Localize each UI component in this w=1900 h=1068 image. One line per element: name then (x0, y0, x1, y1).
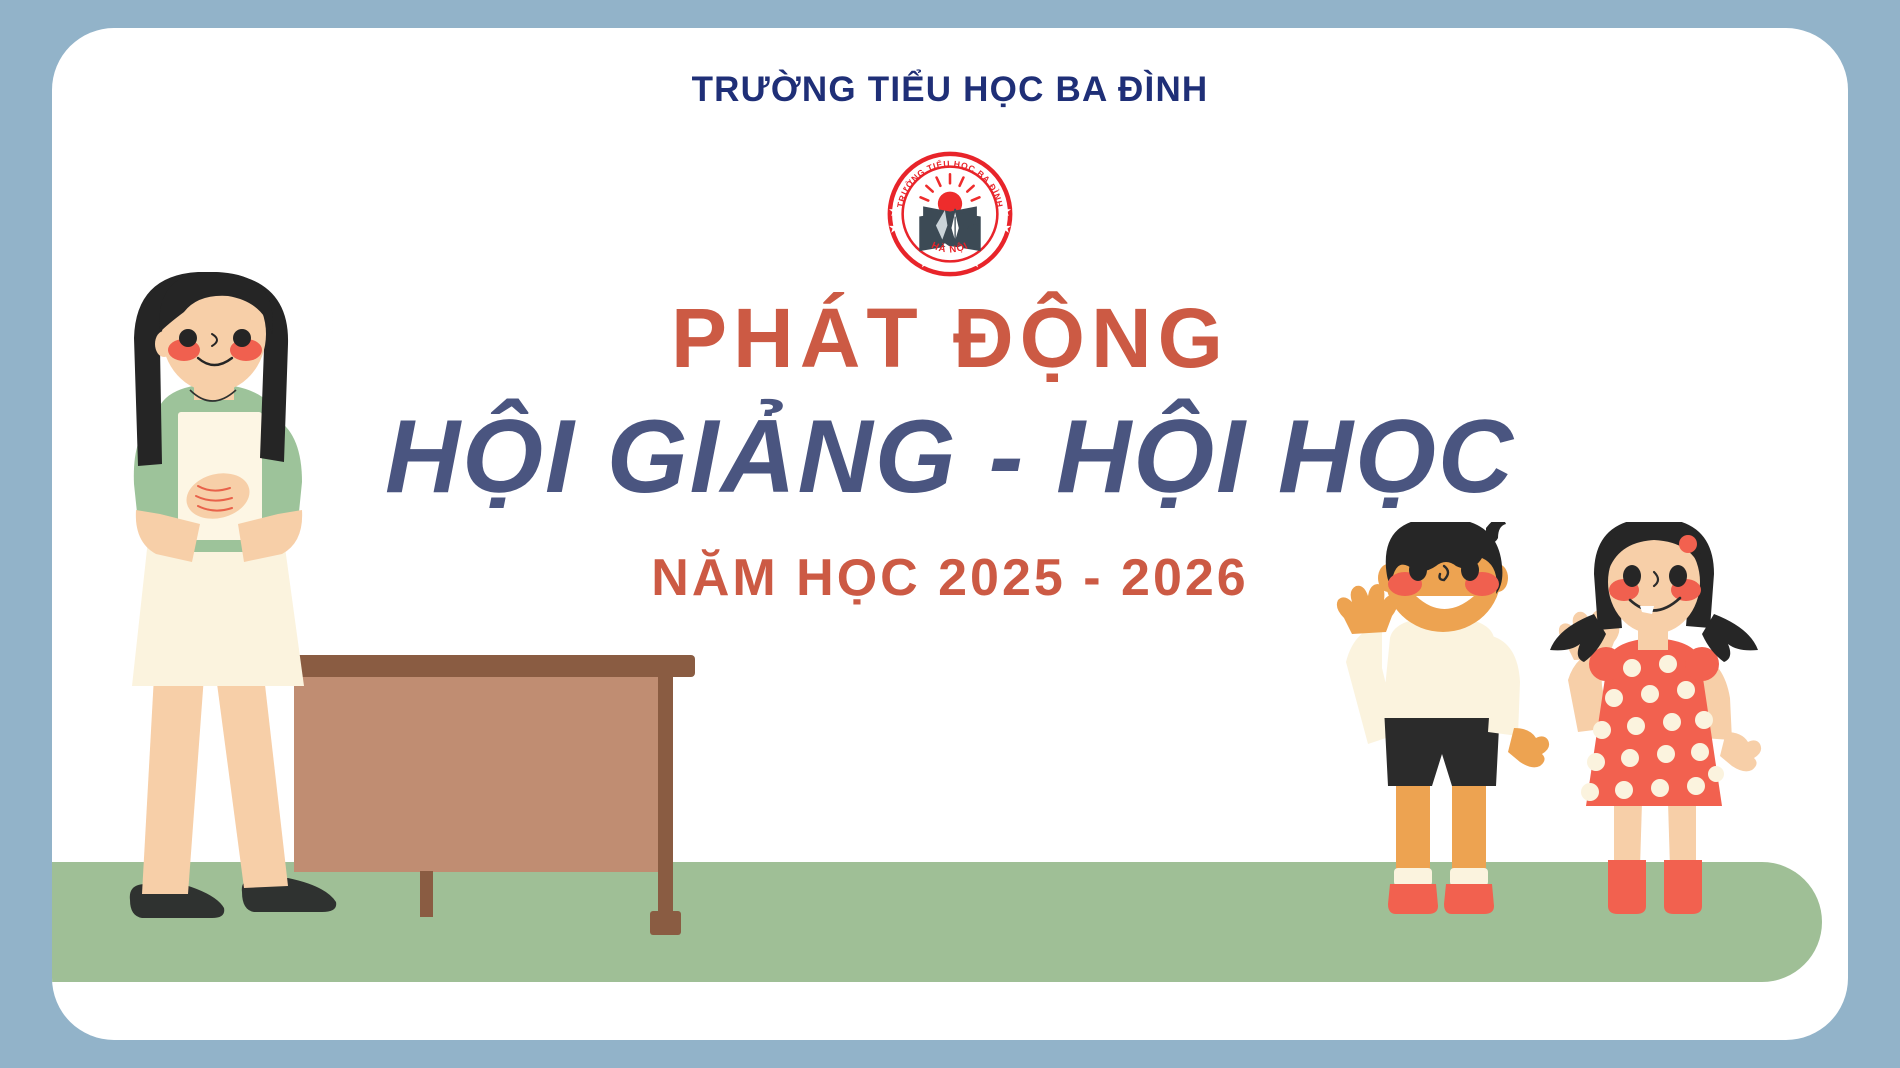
children-group (1286, 522, 1806, 942)
boy-leg-right (1452, 776, 1486, 878)
girl-eye-left (1623, 565, 1641, 587)
page-title: TRƯỜNG TIỂU HỌC BA ĐÌNH (52, 70, 1848, 110)
boy-eye-right (1461, 559, 1479, 581)
girl-hairclip (1679, 535, 1697, 553)
boy-waving (1337, 522, 1549, 914)
boy-shoe-left (1388, 884, 1438, 914)
girl-waving (1550, 522, 1761, 914)
teacher-eye-right (233, 329, 251, 347)
girl-eye-right (1669, 565, 1687, 587)
desk-leg-right (658, 677, 673, 917)
boy-arm-right (1488, 636, 1520, 736)
teacher-leg-right (216, 676, 288, 888)
boy-sock-right (1450, 868, 1488, 886)
teacher-figure (112, 272, 372, 932)
girl-leg-left (1614, 802, 1642, 868)
girl-boot-right (1664, 860, 1702, 914)
boy-sock-left (1394, 868, 1432, 886)
boy-leg-left (1396, 776, 1430, 878)
teacher-leg-left (142, 676, 204, 894)
boy-eye-left (1409, 559, 1427, 581)
boy-hand-right (1508, 728, 1549, 767)
desk-foot-right (650, 911, 681, 935)
girl-leg-right (1668, 802, 1696, 868)
boy-shorts (1384, 708, 1500, 786)
school-logo-icon: BĐ TRƯỜNG TIỂU HỌC BA ĐÌNH HÀ NỘI (886, 150, 1014, 278)
girl-hand-right (1720, 732, 1761, 771)
boy-hair-tuft (1486, 522, 1506, 543)
boy-shoe-right (1444, 884, 1494, 914)
banner-frame: TRƯỜNG TIỂU HỌC BA ĐÌNH (0, 0, 1900, 1068)
logo-monogram: BĐ (960, 219, 980, 235)
desk-leg-left (420, 871, 433, 917)
banner-card: TRƯỜNG TIỂU HỌC BA ĐÌNH (52, 28, 1848, 1040)
teacher-skirt (132, 540, 304, 686)
teacher-eye-left (179, 329, 197, 347)
girl-boot-left (1608, 860, 1646, 914)
